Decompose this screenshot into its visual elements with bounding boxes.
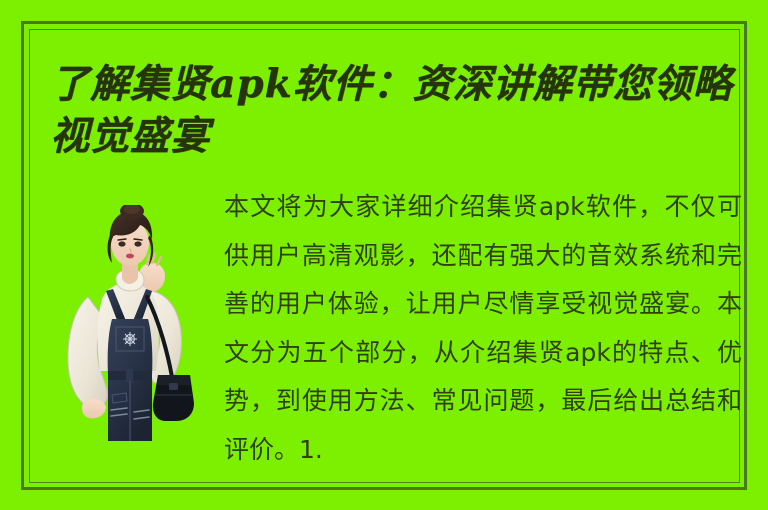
article-title: 了解集贤apk软件：资深讲解带您领略视觉盛宴 <box>50 58 750 162</box>
article-banner: 了解集贤apk软件：资深讲解带您领略视觉盛宴 <box>0 0 768 510</box>
article-body-text: 本文将为大家详细介绍集贤apk软件，不仅可供用户高清观影，还配有强大的音效系统和… <box>224 183 742 474</box>
illustration-young-woman <box>48 205 200 450</box>
